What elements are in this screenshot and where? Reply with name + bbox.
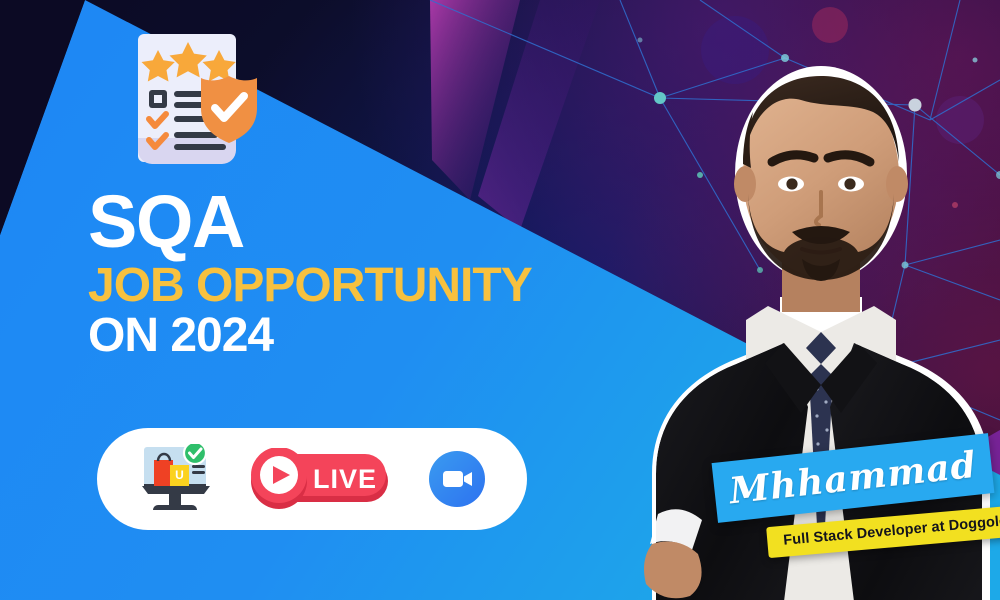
- qa-checklist-shield-icon: [118, 28, 268, 174]
- live-badge[interactable]: LIVE: [246, 448, 396, 510]
- ecommerce-monitor-icon: U: [139, 444, 213, 514]
- ecommerce-monitor-badge[interactable]: U: [139, 444, 213, 514]
- headline-line-1: SQA: [88, 186, 532, 257]
- platform-badge-pill: U LIVE: [97, 428, 527, 530]
- live-badge-icon: LIVE: [246, 448, 396, 510]
- zoom-logo-icon: [429, 451, 485, 507]
- live-label: LIVE: [313, 464, 377, 494]
- zoom-logo-badge[interactable]: [429, 451, 485, 507]
- headline-block: SQA JOB OPPORTUNITY ON 2024: [88, 186, 532, 359]
- promo-banner: SQA JOB OPPORTUNITY ON 2024 U: [0, 0, 1000, 600]
- svg-text:U: U: [175, 468, 184, 482]
- headline-line-2: JOB OPPORTUNITY: [88, 263, 532, 309]
- headline-line-3: ON 2024: [88, 313, 532, 359]
